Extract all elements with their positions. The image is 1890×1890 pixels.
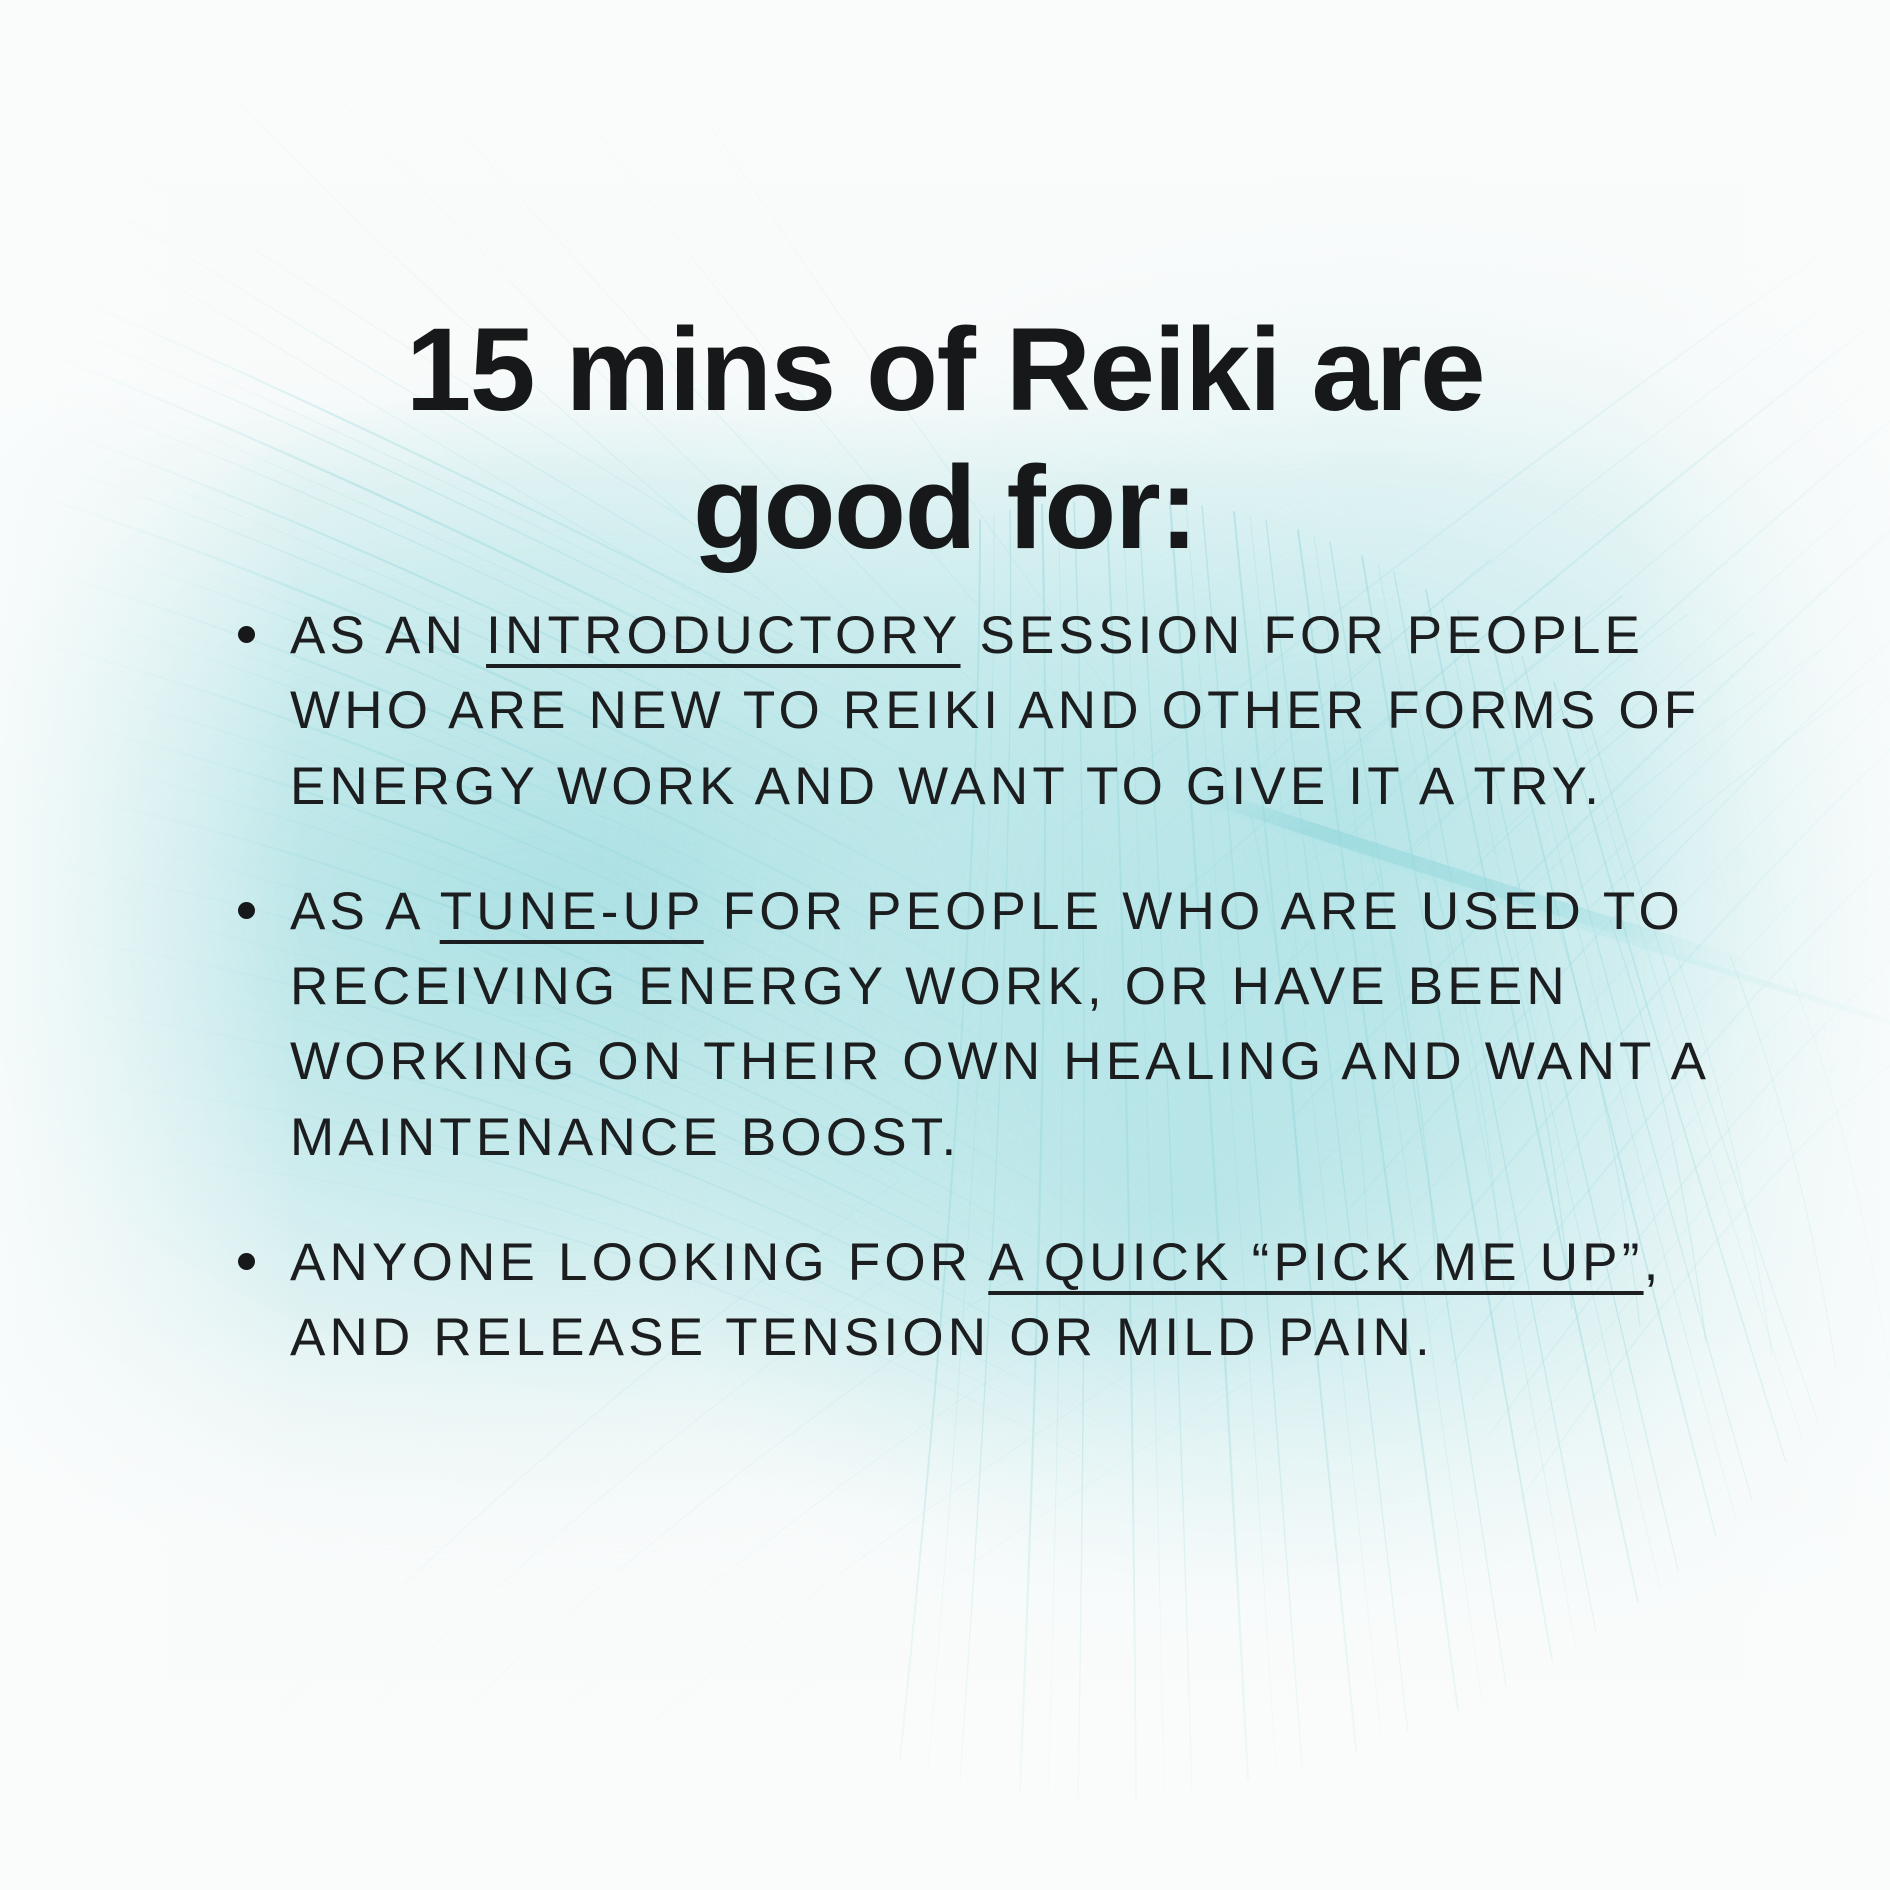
poster-content: 15 mins of Reiki are good for: AS AN INT… bbox=[0, 0, 1890, 1890]
bullet-1-underlined-term: INTRODUCTORY bbox=[486, 606, 960, 665]
title-line-1: 15 mins of Reiki are bbox=[170, 301, 1720, 439]
title-line-2: good for: bbox=[170, 439, 1720, 577]
bullet-text-1: AS AN INTRODUCTORY SESSION FOR PEOPLE WH… bbox=[290, 606, 1700, 816]
list-item: AS AN INTRODUCTORY SESSION FOR PEOPLE WH… bbox=[232, 598, 1720, 824]
page-title: 15 mins of Reiki are good for: bbox=[0, 301, 1890, 577]
bullet-text-2: AS A TUNE-UP FOR PEOPLE WHO ARE USED TO … bbox=[290, 882, 1707, 1167]
bullet-2-seg-0: AS A bbox=[290, 882, 440, 941]
bullet-dot-icon bbox=[238, 626, 255, 643]
bullet-3-underlined-term: A QUICK “PICK ME UP” bbox=[988, 1233, 1643, 1292]
list-item: AS A TUNE-UP FOR PEOPLE WHO ARE USED TO … bbox=[232, 874, 1720, 1175]
poster-canvas: 15 mins of Reiki are good for: AS AN INT… bbox=[0, 0, 1890, 1890]
bullet-text-3: ANYONE LOOKING FOR A QUICK “PICK ME UP”,… bbox=[290, 1233, 1663, 1367]
bullet-dot-icon bbox=[238, 1253, 255, 1270]
bullet-1-seg-0: AS AN bbox=[290, 606, 486, 665]
bullet-dot-icon bbox=[238, 902, 255, 919]
benefits-list: AS AN INTRODUCTORY SESSION FOR PEOPLE WH… bbox=[232, 598, 1720, 1375]
list-item: ANYONE LOOKING FOR A QUICK “PICK ME UP”,… bbox=[232, 1225, 1720, 1376]
bullet-2-underlined-term: TUNE-UP bbox=[440, 882, 704, 941]
bullet-3-seg-0: ANYONE LOOKING FOR bbox=[290, 1233, 988, 1292]
